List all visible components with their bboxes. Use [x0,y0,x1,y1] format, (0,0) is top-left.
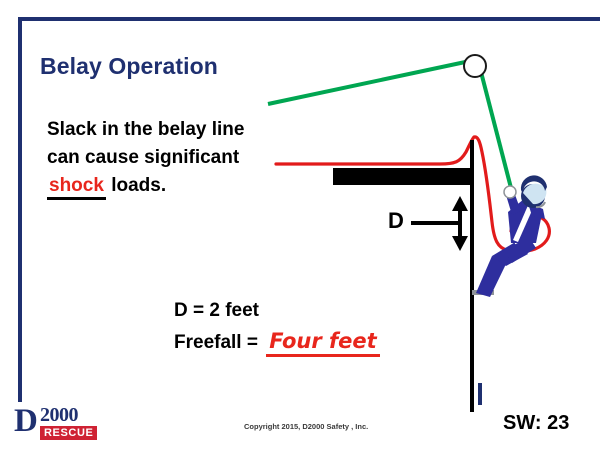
d-connector-line [411,221,459,225]
slide-canvas: Belay Operation Slack in the belay line … [0,0,600,450]
highlight-shock: shock [47,175,106,200]
logo-letter-d: D [14,405,38,438]
freefall-label: Freefall = [174,332,263,353]
page-title: Belay Operation [40,53,218,80]
body-text-before: Slack in the belay line can cause signif… [47,119,244,168]
logo-banner-rescue: RESCUE [40,426,97,440]
page-marker: SW: 23 [503,412,569,435]
d2000-rescue-logo: D 2000 RESCUE [14,403,110,441]
green-line-lower [481,72,518,215]
frame-border-right [478,383,482,405]
climber-upper-leg [492,241,528,266]
d-distance-arrow [452,196,468,251]
measurement-line-freefall: Freefall = Four feet [174,329,380,354]
pulley-anchor-icon [464,55,486,77]
climber-chest-strap [513,203,534,242]
helmet-chin-strap [536,202,545,207]
frame-border-top [18,17,600,21]
climber-raised-arm [506,192,521,215]
climber-shoulder-arm [528,203,545,219]
climber-head [521,184,545,208]
freefall-answer: Four feet [266,329,379,357]
climber-torso [508,199,542,243]
climber-second-leg [504,234,536,263]
measurement-line-d: D = 2 feet [174,300,259,322]
climber-figure [472,175,547,297]
helmet-brim [521,175,547,194]
climber-harness [512,230,531,245]
body-paragraph: Slack in the belay line can cause signif… [47,116,247,200]
copyright-notice: Copyright 2015, D2000 Safety , Inc. [244,422,368,431]
green-line-upper [268,61,470,104]
body-text-after: loads. [106,175,166,196]
logo-number-2000: 2000 [40,405,78,425]
ledge-beam [333,168,472,185]
frame-border-left [18,17,22,402]
d-measurement-label: D [388,208,404,234]
climber-hand-grip [504,186,516,198]
red-belay-line [276,137,549,252]
climber-lower-leg [476,256,506,297]
helmet-highlight [523,184,546,204]
climber-boot [472,290,494,295]
wall-line [470,140,474,412]
